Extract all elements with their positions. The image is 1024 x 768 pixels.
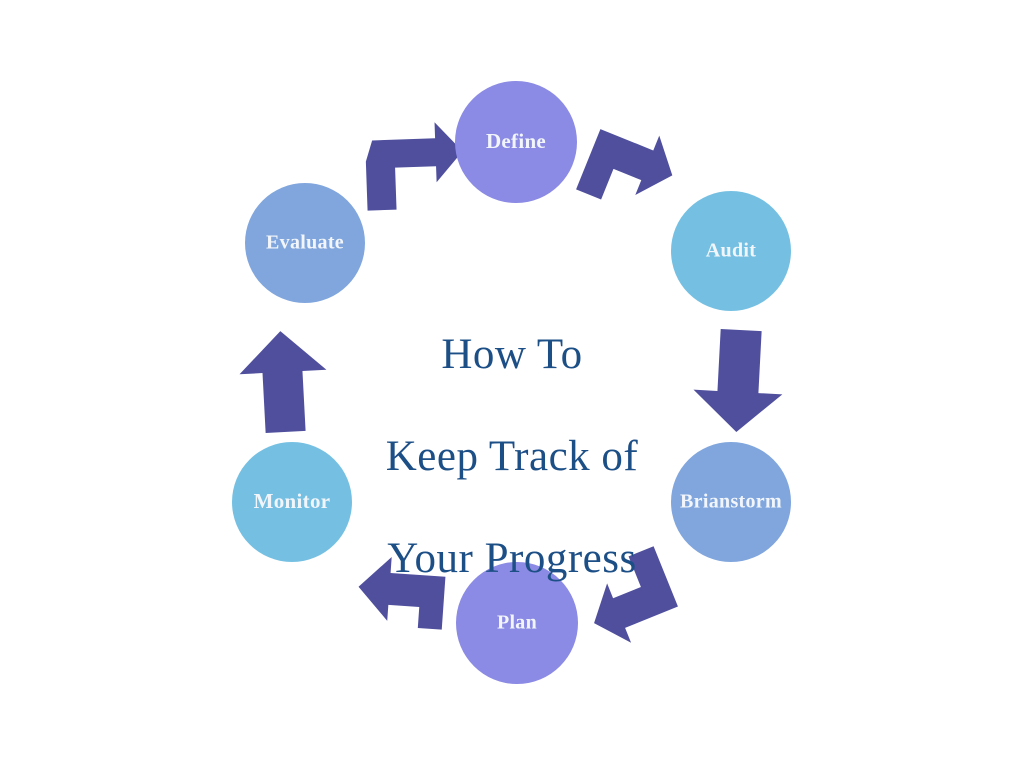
- arrow-define-to-audit-shape: [576, 114, 684, 221]
- process-cycle-diagram: Define Audit Brianstorm Plan Monitor Eva…: [0, 0, 1024, 768]
- arrow-define-to-audit: [576, 114, 684, 221]
- title-line-2: Keep Track of: [312, 431, 712, 482]
- arrow-evaluate-to-define-shape: [365, 121, 465, 210]
- arrow-evaluate-to-define: [365, 121, 465, 210]
- node-define[interactable]: Define: [455, 81, 577, 203]
- node-define-label: Define: [486, 129, 546, 153]
- diagram-center-title: How To Keep Track of Your Progress: [312, 278, 712, 635]
- node-audit-label: Audit: [706, 240, 756, 262]
- title-line-1: How To: [312, 329, 712, 380]
- node-evaluate-label: Evaluate: [266, 232, 344, 254]
- title-line-3: Your Progress: [312, 533, 712, 584]
